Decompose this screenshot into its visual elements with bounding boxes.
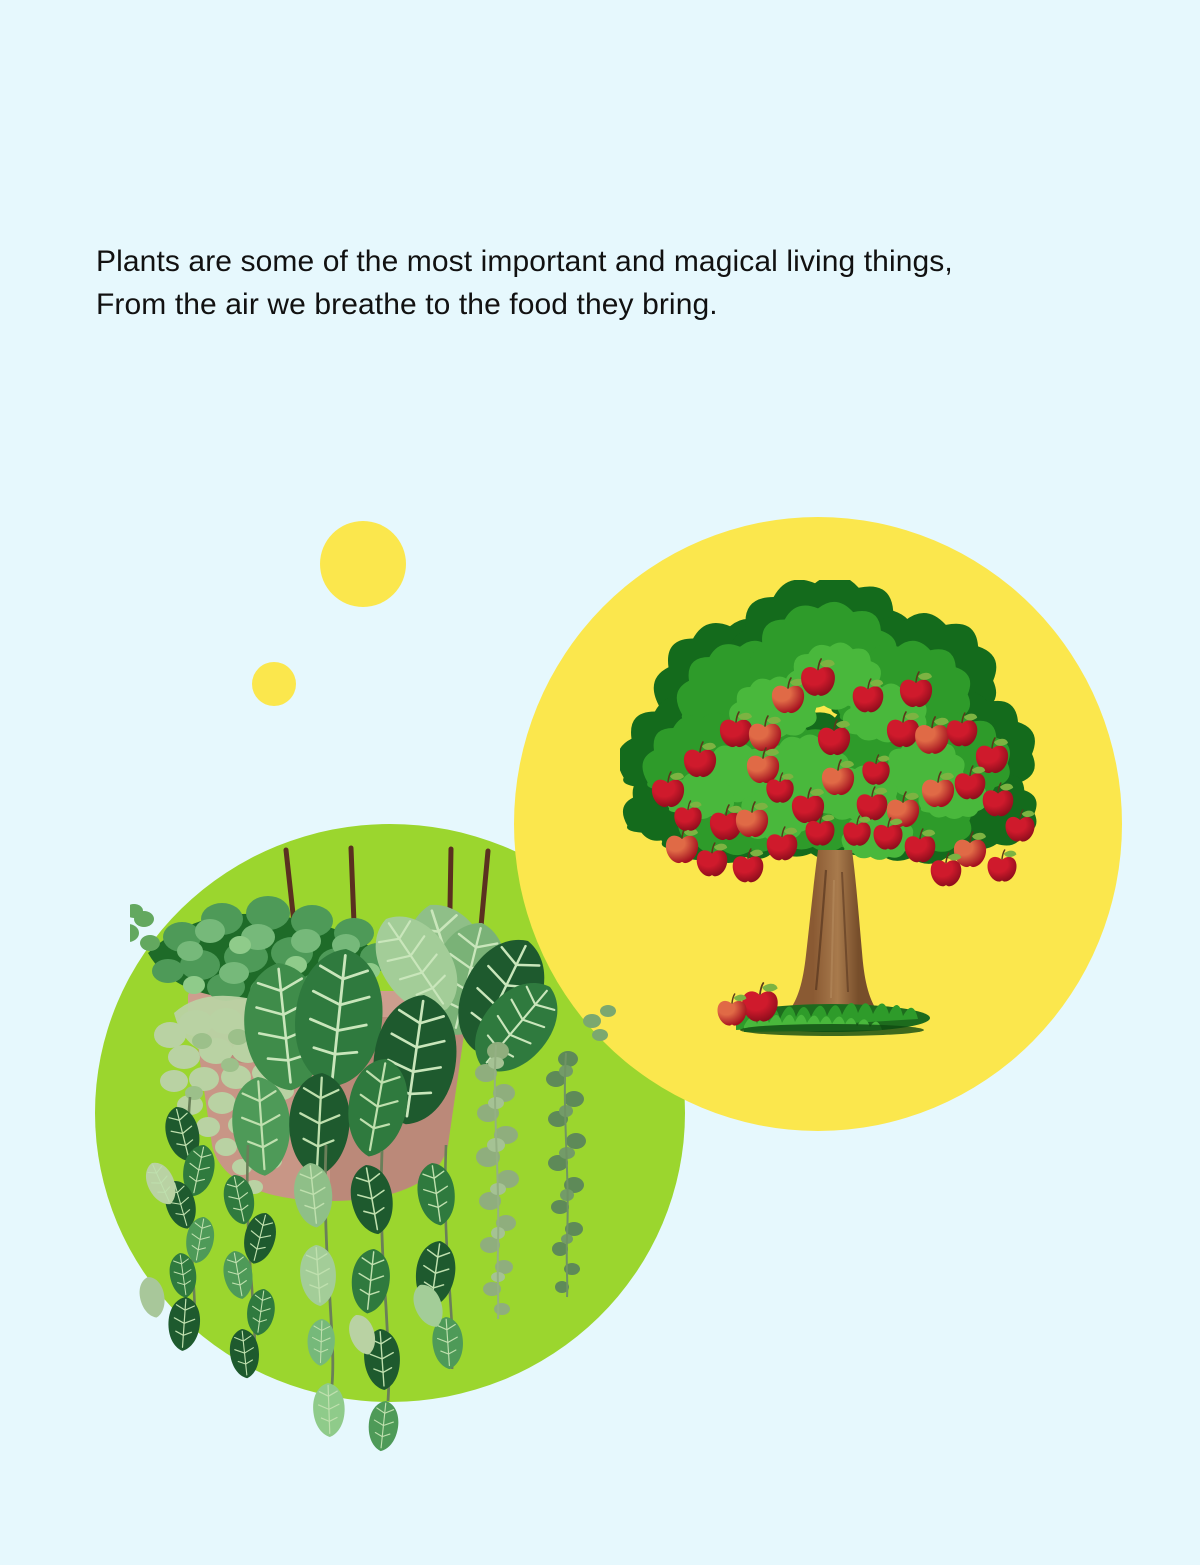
page-root: Plants are some of the most important an… [0, 0, 1200, 1565]
yellow-circle-backdrop [514, 517, 1122, 1131]
decorative-dot-small [252, 662, 296, 706]
poem-text: Plants are some of the most important an… [96, 240, 1116, 326]
decorative-dot-large [320, 521, 406, 607]
poem-line-1: Plants are some of the most important an… [96, 240, 1116, 283]
poem-line-2: From the air we breathe to the food they… [96, 283, 1116, 326]
